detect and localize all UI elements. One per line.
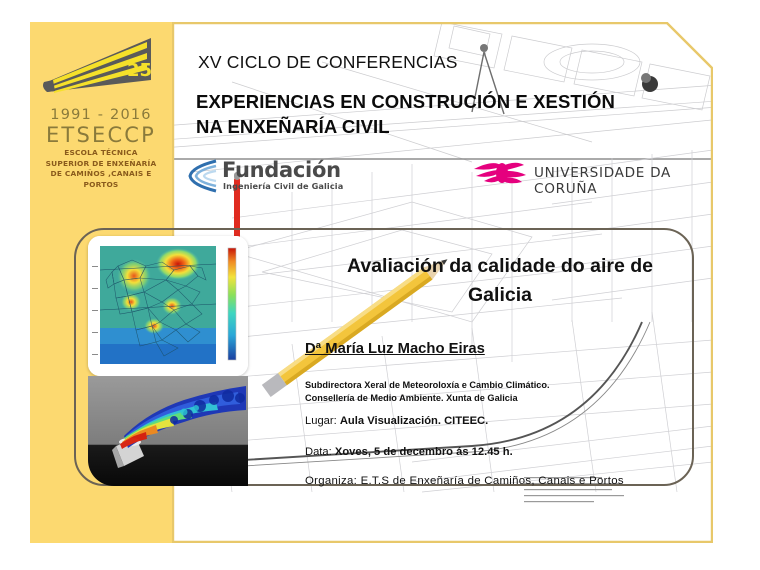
school-name-line-3: DE CAMIÑOS ,CANAIS E — [34, 169, 168, 180]
talk-title-line-2: Galicia — [300, 281, 700, 310]
cycle-title-line-1: EXPERIENCIAS EN CONSTRUCIÓN E XESTIÓN — [196, 89, 615, 114]
anniversary-years: 1991 - 2016 — [30, 107, 172, 123]
cycle-title-line-2: NA ENXEÑARÍA CIVIL — [196, 114, 615, 139]
speaker-name: Dª María Luz Macho Eiras — [305, 341, 485, 357]
school-full-name: ESCOLA TÉCNICA SUPERIOR DE ENXEÑARÍA DE … — [34, 148, 168, 190]
series-title: XV CICLO DE CONFERENCIAS — [198, 52, 458, 73]
venue-label: Lugar: — [305, 415, 337, 427]
date-label: Data: — [305, 446, 332, 458]
fundacion-wordmark: Fundación — [222, 158, 341, 182]
affiliation-line-2: Consellería de Medio Ambiente. Xunta de … — [305, 392, 550, 405]
venue-value: Aula Visualización. CITEEC. — [340, 415, 488, 427]
school-name-line-4: PORTOS — [34, 180, 168, 191]
school-name-line-2: SUPERIOR DE ENXEÑARÍA — [34, 159, 168, 170]
cycle-title: EXPERIENCIAS EN CONSTRUCIÓN E XESTIÓN NA… — [196, 89, 615, 139]
udc-wordmark: UNIVERSIDADE DA CORUÑA — [534, 165, 710, 197]
svg-text:25: 25 — [127, 60, 152, 81]
date-row: Data: Xoves, 5 de decembro ás 12.45 h. — [305, 446, 513, 458]
organizer-row: Organiza: E.T.S de Enxeñaría de Camiños,… — [305, 475, 624, 487]
fundacion-logo: Fundación Ingeniería Civil de Galicia — [186, 158, 354, 194]
affiliation-line-1: Subdirectora Xeral de Meteoroloxía e Cam… — [305, 379, 550, 392]
organizer-label: Organiza: — [305, 475, 357, 487]
fundacion-waves-icon — [186, 159, 220, 193]
pollution-plume-simulation — [88, 376, 248, 486]
fundacion-subtitle: Ingeniería Civil de Galicia — [223, 181, 343, 191]
udc-logo: UNIVERSIDADE DA CORUÑA — [472, 157, 710, 191]
conference-poster: 25 1991 - 2016 ETSECCP ESCOLA TÉCNICA SU… — [0, 0, 760, 570]
talk-title: Avaliación da calidade do aire de Galici… — [300, 252, 700, 310]
etseccp-ramp-logo: 25 — [41, 36, 161, 108]
galicia-air-quality-heatmap — [88, 236, 248, 376]
speaker-affiliation: Subdirectora Xeral de Meteoroloxía e Cam… — [305, 379, 550, 404]
talk-title-line-1: Avaliación da calidade do aire de — [300, 252, 700, 281]
udc-pinwheel-icon — [472, 157, 528, 189]
school-name-line-1: ESCOLA TÉCNICA — [34, 148, 168, 159]
date-value: Xoves, 5 de decembro ás 12.45 h. — [335, 446, 513, 458]
school-acronym: ETSECCP — [30, 123, 172, 147]
organizer-value: E.T.S de Enxeñaría de Camiños, Canais e … — [361, 475, 624, 487]
venue-row: Lugar: Aula Visualización. CITEEC. — [305, 415, 488, 427]
